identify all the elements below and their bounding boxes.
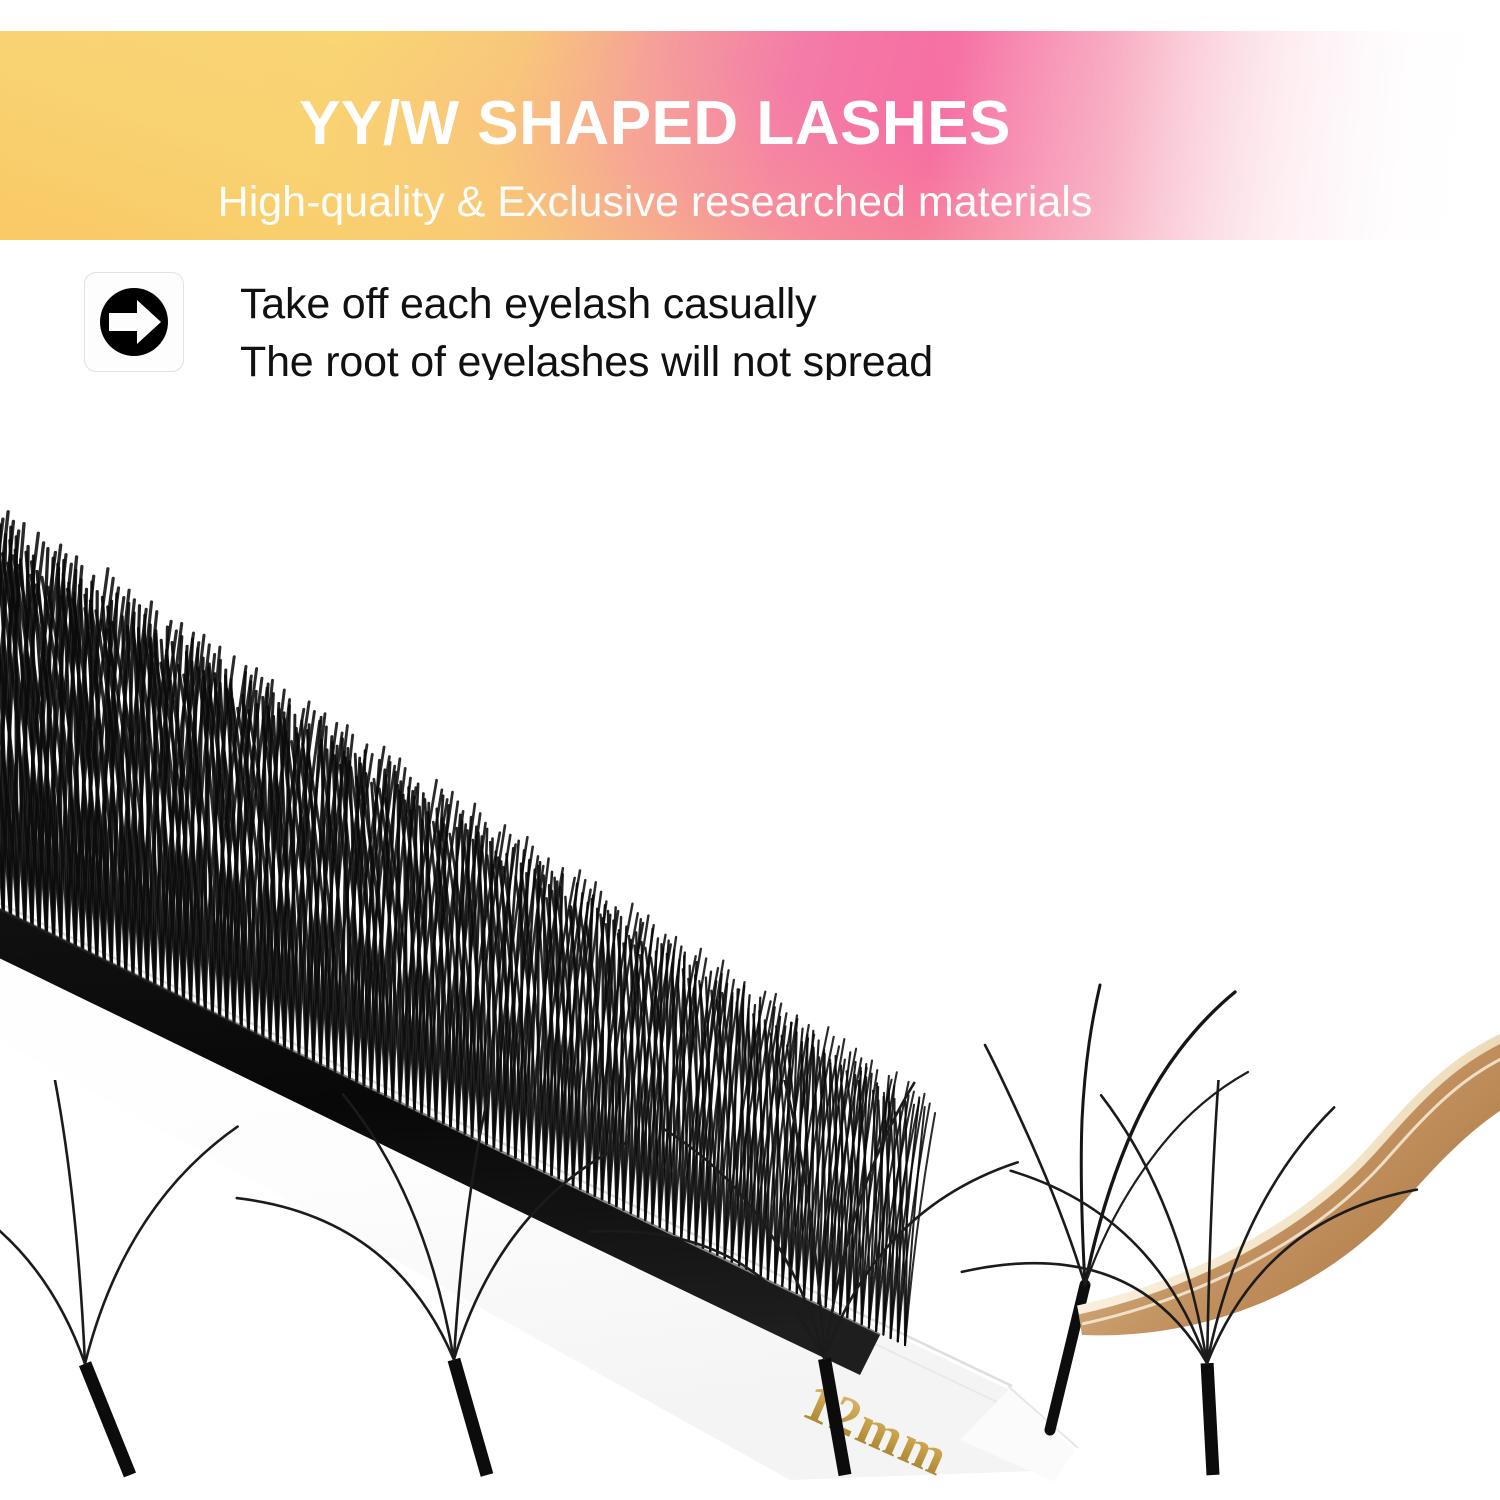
instruction-block: Take off each eyelash casually The root …	[84, 272, 933, 391]
lash-fan-sample	[962, 1080, 1417, 1475]
lash-fan-sample	[591, 1080, 1018, 1475]
page-title: YY/W SHAPED LASHES	[0, 93, 1500, 155]
page-subtitle: High-quality & Exclusive researched mate…	[0, 181, 1500, 224]
fan-sample-row	[0, 1080, 1500, 1500]
instruction-line-1: Take off each eyelash casually	[240, 275, 933, 333]
instruction-lines: Take off each eyelash casually The root …	[240, 272, 933, 391]
lash-fan-sample	[237, 1080, 628, 1475]
arrow-right-circle-icon	[84, 272, 184, 372]
lash-fan-sample	[0, 1080, 238, 1475]
hero-banner: YY/W SHAPED LASHES High-quality & Exclus…	[0, 31, 1500, 240]
